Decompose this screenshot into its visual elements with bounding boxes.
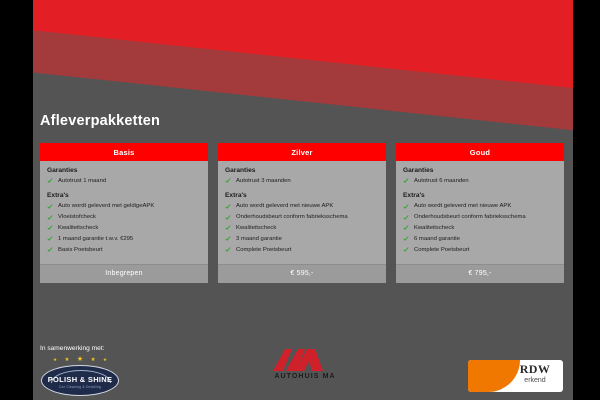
check-icon xyxy=(403,178,409,184)
polish-shine-tagline: Car Cleaning & Detailing xyxy=(59,385,101,389)
list-item: Autotrust 3 maanden xyxy=(225,178,379,186)
list-item: Onderhoudsbeurt conform fabrieksschema xyxy=(225,214,379,222)
extras-list: Auto wordt geleverd met nieuwe APK Onder… xyxy=(225,203,379,254)
autohuis-ma-logo: AUTOHUIS MA xyxy=(265,349,345,380)
extras-heading: Extra's xyxy=(47,192,201,199)
list-item-label: Auto wordt geleverd met geldigeAPK xyxy=(58,203,154,211)
check-icon xyxy=(225,178,231,184)
list-item: Kwaliteitscheck xyxy=(225,225,379,233)
pricing-card-goud[interactable]: Goud Garanties Autotrust 6 maanden Extra… xyxy=(396,143,564,283)
page-title: Afleverpakketten xyxy=(40,113,160,129)
card-header-title: Zilver xyxy=(218,143,386,161)
card-body: Garanties Autotrust 3 maanden Extra's Au… xyxy=(218,161,386,265)
star-icon: ★ xyxy=(53,358,57,363)
guarantees-heading: Garanties xyxy=(403,167,557,174)
autohuis-ma-name: AUTOHUIS MA xyxy=(265,373,345,380)
list-item: Kwaliteitscheck xyxy=(403,225,557,233)
list-item: Autotrust 6 maanden xyxy=(403,178,557,186)
check-icon xyxy=(403,204,409,210)
autohuis-ma-mark-icon xyxy=(271,349,339,371)
slide-screenshot: Afleverpakketten Basis Garanties Autotru… xyxy=(0,0,600,400)
card-body: Garanties Autotrust 6 maanden Extra's Au… xyxy=(396,161,564,265)
list-item: 1 maand garantie t.w.v. €295 xyxy=(47,236,201,244)
list-item: Basis Poetsbeurt xyxy=(47,247,201,255)
check-icon xyxy=(225,215,231,221)
guarantees-list: Autotrust 1 maand xyxy=(47,178,201,186)
pricing-card-basis[interactable]: Basis Garanties Autotrust 1 maand Extra'… xyxy=(40,143,208,283)
list-item-label: Onderhoudsbeurt conform fabrieksschema xyxy=(414,214,526,222)
list-item: Auto wordt geleverd met nieuwe APK xyxy=(225,203,379,211)
list-item-label: Vloeistofcheck xyxy=(58,214,96,222)
star-icon: ★ xyxy=(77,356,83,363)
check-icon xyxy=(47,225,53,231)
list-item-label: 3 maand garantie xyxy=(236,236,282,244)
rdw-main-label: RDW xyxy=(514,363,556,377)
check-icon xyxy=(47,247,53,253)
list-item: Autotrust 1 maand xyxy=(47,178,201,186)
list-item-label: Autotrust 1 maand xyxy=(58,178,106,186)
check-icon xyxy=(225,247,231,253)
card-body: Garanties Autotrust 1 maand Extra's Auto… xyxy=(40,161,208,265)
card-header-title: Goud xyxy=(396,143,564,161)
card-price: € 595,- xyxy=(218,264,386,283)
check-icon xyxy=(47,236,53,242)
partner-label: In samenwerking met: xyxy=(40,345,105,352)
list-item-label: Complete Poetsbeurt xyxy=(236,247,291,255)
guarantees-list: Autotrust 3 maanden xyxy=(225,178,379,186)
extras-list: Auto wordt geleverd met nieuwe APK Onder… xyxy=(403,203,557,254)
pricing-card-zilver[interactable]: Zilver Garanties Autotrust 3 maanden Ext… xyxy=(218,143,386,283)
extras-heading: Extra's xyxy=(225,192,379,199)
check-icon xyxy=(47,178,53,184)
list-item: 6 maand garantie xyxy=(403,236,557,244)
list-item: Complete Poetsbeurt xyxy=(225,247,379,255)
check-icon xyxy=(47,204,53,210)
list-item-label: Basis Poetsbeurt xyxy=(58,247,103,255)
check-icon xyxy=(225,225,231,231)
guarantees-list: Autotrust 6 maanden xyxy=(403,178,557,186)
star-icon: ★ xyxy=(91,358,96,364)
list-item-label: Auto wordt geleverd met nieuwe APK xyxy=(236,203,333,211)
list-item: Complete Poetsbeurt xyxy=(403,247,557,255)
rdw-erkend-logo: RDW erkend xyxy=(468,360,563,392)
extras-heading: Extra's xyxy=(403,192,557,199)
card-header-title: Basis xyxy=(40,143,208,161)
list-item: Auto wordt geleverd met nieuwe APK xyxy=(403,203,557,211)
check-icon xyxy=(403,236,409,242)
check-icon xyxy=(225,236,231,242)
polish-shine-name: POLISH & SHINE xyxy=(48,375,113,384)
list-item: Onderhoudsbeurt conform fabrieksschema xyxy=(403,214,557,222)
rdw-text-block: RDW erkend xyxy=(514,363,556,385)
card-price: € 795,- xyxy=(396,264,564,283)
list-item-label: Kwaliteitscheck xyxy=(58,225,98,233)
check-icon xyxy=(403,247,409,253)
check-icon xyxy=(47,215,53,221)
list-item: Kwaliteitscheck xyxy=(47,225,201,233)
list-item-label: Autotrust 3 maanden xyxy=(236,178,291,186)
star-icon: ★ xyxy=(64,358,69,364)
check-icon xyxy=(403,225,409,231)
list-item-label: Kwaliteitscheck xyxy=(236,225,276,233)
list-item-label: Complete Poetsbeurt xyxy=(414,247,469,255)
list-item-label: Autotrust 6 maanden xyxy=(414,178,469,186)
polish-and-shine-logo: ★ ★ ★ ★ ★ POLISH & SHINE Car Cleaning & … xyxy=(41,356,119,396)
list-item-label: Onderhoudsbeurt conform fabrieksschema xyxy=(236,214,348,222)
pricing-cards-row: Basis Garanties Autotrust 1 maand Extra'… xyxy=(40,143,566,283)
slide-canvas: Afleverpakketten Basis Garanties Autotru… xyxy=(33,0,573,400)
list-item-label: Auto wordt geleverd met nieuwe APK xyxy=(414,203,511,211)
rating-stars: ★ ★ ★ ★ ★ xyxy=(53,356,107,363)
polish-shine-badge: POLISH & SHINE Car Cleaning & Detailing xyxy=(41,365,119,396)
list-item: Auto wordt geleverd met geldigeAPK xyxy=(47,203,201,211)
list-item-label: Kwaliteitscheck xyxy=(414,225,454,233)
list-item: 3 maand garantie xyxy=(225,236,379,244)
guarantees-heading: Garanties xyxy=(225,167,379,174)
list-item-label: 6 maand garantie xyxy=(414,236,460,244)
rdw-sub-label: erkend xyxy=(514,377,556,385)
rdw-swoosh-icon xyxy=(468,360,520,392)
check-icon xyxy=(225,204,231,210)
star-icon: ★ xyxy=(103,358,107,363)
check-icon xyxy=(403,215,409,221)
list-item: Vloeistofcheck xyxy=(47,214,201,222)
list-item-label: 1 maand garantie t.w.v. €295 xyxy=(58,236,133,244)
card-price: Inbegrepen xyxy=(40,264,208,283)
extras-list: Auto wordt geleverd met geldigeAPK Vloei… xyxy=(47,203,201,254)
guarantees-heading: Garanties xyxy=(47,167,201,174)
